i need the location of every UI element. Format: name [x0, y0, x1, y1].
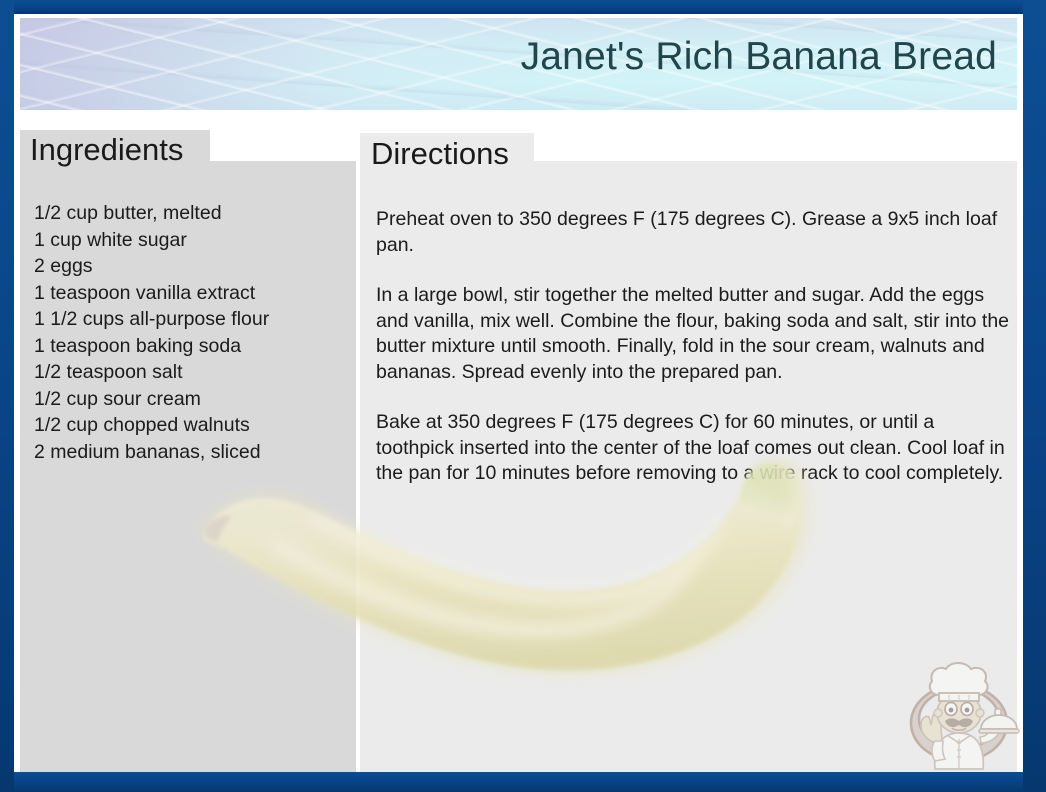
- ingredient-item: 1 teaspoon vanilla extract: [34, 280, 344, 307]
- ingredient-item: 1/2 cup chopped walnuts: [34, 412, 344, 439]
- tab-directions[interactable]: Directions: [360, 133, 534, 179]
- ingredients-list: 1/2 cup butter, melted1 cup white sugar2…: [34, 200, 344, 465]
- ingredient-item: 1 cup white sugar: [34, 227, 344, 254]
- ingredient-item: 1/2 teaspoon salt: [34, 359, 344, 386]
- ingredient-item: 1/2 cup sour cream: [34, 386, 344, 413]
- slide-border-right: [1023, 0, 1046, 792]
- slide-border-left: [0, 0, 14, 792]
- tab-ingredients[interactable]: Ingredients: [20, 130, 210, 175]
- slide-border-top: [0, 0, 1046, 14]
- ingredient-item: 2 eggs: [34, 253, 344, 280]
- ingredient-item: 1 teaspoon baking soda: [34, 333, 344, 360]
- slide-border-bottom: [0, 770, 1046, 792]
- page-title: Janet's Rich Banana Bread: [521, 37, 997, 76]
- direction-paragraph: Preheat oven to 350 degrees F (175 degre…: [376, 207, 1014, 258]
- ingredient-item: 1 1/2 cups all-purpose flour: [34, 306, 344, 333]
- directions-text: Preheat oven to 350 degrees F (175 degre…: [376, 207, 1014, 487]
- slide-page: Janet's Rich Banana Bread Ingredients Di…: [14, 14, 1023, 772]
- ingredient-item: 2 medium bananas, sliced: [34, 439, 344, 466]
- direction-paragraph: In a large bowl, stir together the melte…: [376, 283, 1014, 385]
- direction-paragraph: Bake at 350 degrees F (175 degrees C) fo…: [376, 410, 1014, 487]
- ingredient-item: 1/2 cup butter, melted: [34, 200, 344, 227]
- recipe-slide: Janet's Rich Banana Bread Ingredients Di…: [0, 0, 1046, 792]
- header-banner: Janet's Rich Banana Bread: [20, 18, 1017, 110]
